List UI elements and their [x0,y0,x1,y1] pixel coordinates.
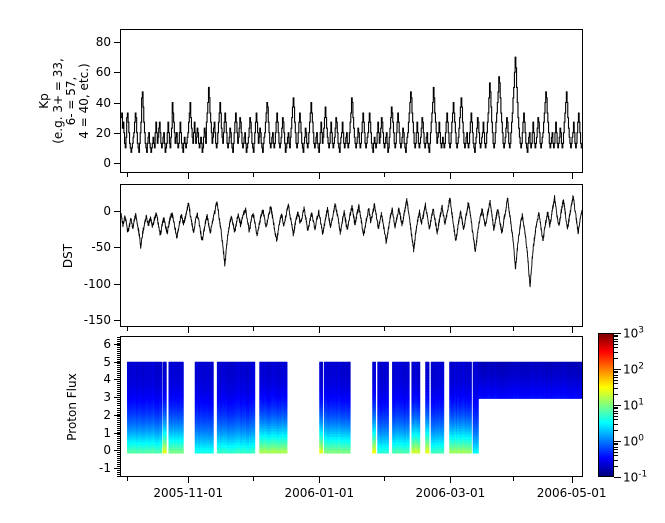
panel-dst [120,184,583,327]
series-dst [121,195,582,286]
ytick-mark-dst [114,284,120,285]
figure-root: 0204060800-50-100-150-101234562005-11-01… [0,0,665,523]
xtick-mark [188,327,189,333]
xtick-minor [384,173,385,177]
ytick-label-dst: -100 [0,277,111,291]
ytick-label-dst: -150 [0,313,111,327]
spectrogram-cell [321,450,323,453]
ytick-mark-kp [114,133,120,134]
spectrogram-cell [165,450,167,453]
ytick-label-kp: 80 [0,35,111,49]
ytick-label-dst: -50 [0,240,111,254]
xtick-minor [384,327,385,331]
ytick-mark-kp [114,103,120,104]
xtick-mark [319,173,320,179]
plot-area-dst [121,185,582,326]
ytick-mark-kp [114,72,120,73]
xtick-minor [513,327,514,331]
ytick-mark-dst [114,247,120,248]
xtick-mark [572,173,573,179]
xtick-mark [450,173,451,179]
ytick-mark-dst [114,211,120,212]
xtick-minor [127,173,128,177]
spectrogram-cell [254,450,256,453]
spectrogram-cell [286,450,288,453]
spectrogram-cell [182,450,184,453]
xtick-mark [319,327,320,333]
plot-area-proton [121,337,582,476]
ytick-label-dst: 0 [0,204,111,218]
ytick-mark-dst [114,320,120,321]
xtick-mark [188,173,189,179]
xtick-mark [572,327,573,333]
ytick-mark-kp [114,163,120,164]
panel-proton [120,336,583,477]
spectrogram-cell [160,450,162,453]
plot-area-kp [121,30,582,172]
xtick-minor [253,327,254,331]
xtick-minor [513,173,514,177]
xtick-minor [127,327,128,331]
xtick-mark [450,327,451,333]
ytick-label-kp: 0 [0,156,111,170]
series-kp [121,57,582,152]
panel-kp [120,29,583,173]
ytick-mark-kp [114,42,120,43]
xtick-minor [253,173,254,177]
spectrogram-cell [212,450,214,453]
